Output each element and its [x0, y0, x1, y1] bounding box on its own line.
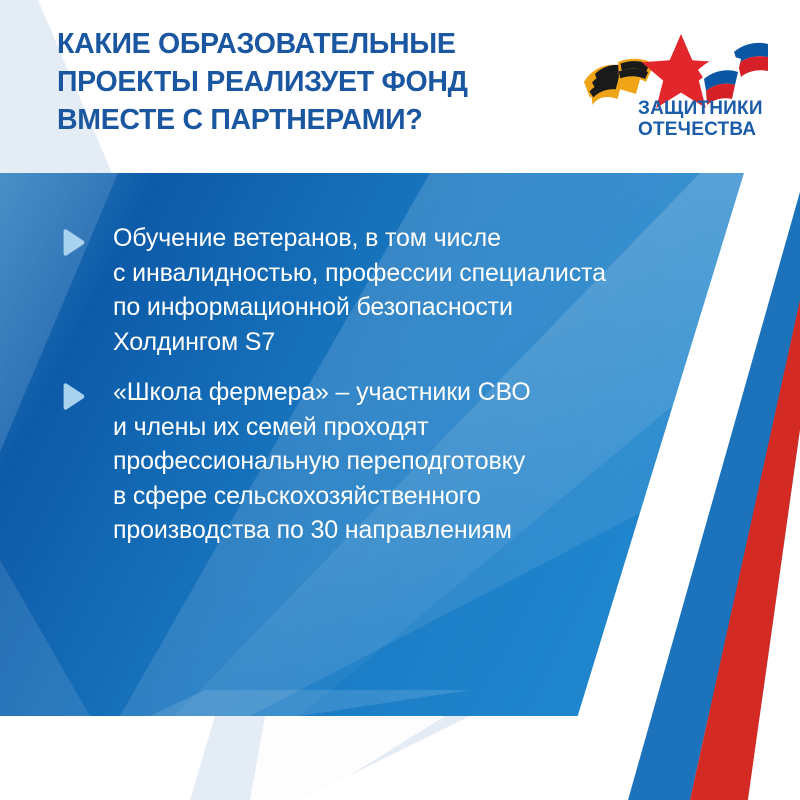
list-item-text: «Школа фермера» – участники СВО и члены … [113, 375, 531, 548]
page-title: КАКИЕ ОБРАЗОВАТЕЛЬНЫЕ ПРОЕКТЫ РЕАЛИЗУЕТ … [57, 26, 557, 140]
poster-canvas: КАКИЕ ОБРАЗОВАТЕЛЬНЫЕ ПРОЕКТЫ РЕАЛИЗУЕТ … [0, 0, 800, 800]
russian-flag-ribbon-icon [698, 27, 768, 105]
list-item: Обучение ветеранов, в том числе с инвали… [60, 221, 606, 359]
logo-mark-graphics [578, 22, 790, 108]
logo-wordmark: ЗАЩИТНИКИ ОТЕЧЕСТВА [638, 98, 790, 141]
list-item: «Школа фермера» – участники СВО и члены … [60, 375, 531, 548]
organization-logo: ЗАЩИТНИКИ ОТЕЧЕСТВА [578, 22, 790, 148]
triangle-right-icon [60, 383, 86, 410]
list-item-text: Обучение ветеранов, в том числе с инвали… [113, 221, 606, 359]
bullet-list: Обучение ветеранов, в том числе с инвали… [0, 173, 800, 716]
triangle-right-icon [60, 229, 86, 256]
header-band: КАКИЕ ОБРАЗОВАТЕЛЬНЫЕ ПРОЕКТЫ РЕАЛИЗУЕТ … [0, 0, 800, 173]
